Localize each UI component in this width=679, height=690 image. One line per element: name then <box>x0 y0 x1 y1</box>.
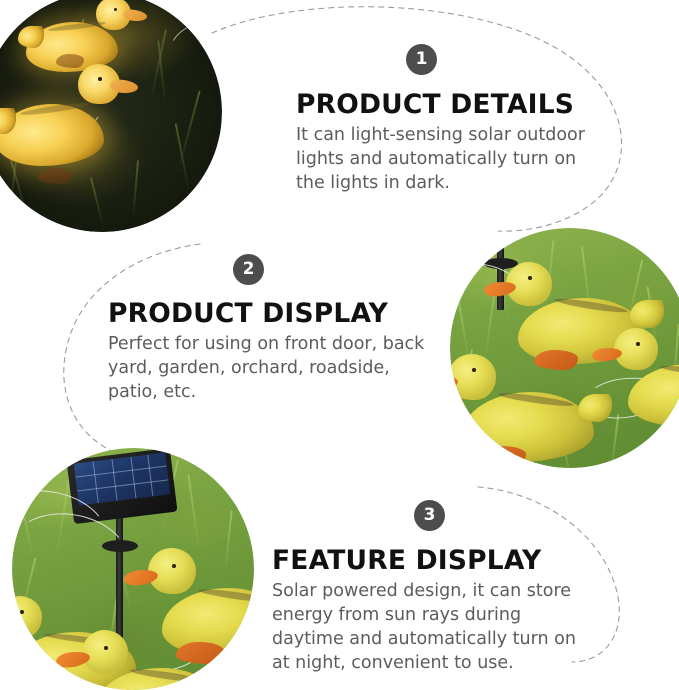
duck-night-front <box>0 62 142 180</box>
infographic-canvas: 1 PRODUCT DETAILS It can light-sensing s… <box>0 0 679 689</box>
section-1-body: It can light-sensing solar outdoor light… <box>296 124 608 195</box>
section-3-heading: FEATURE DISPLAY <box>272 546 612 575</box>
step-badge-3: 3 <box>414 500 445 531</box>
product-photo-night <box>0 0 222 232</box>
step-badge-2: 2 <box>233 254 264 285</box>
section-1-heading: PRODUCT DETAILS <box>296 90 626 119</box>
duck-solar-bottom <box>68 628 232 690</box>
solar-panel-scene <box>12 448 254 690</box>
section-2-heading: PRODUCT DISPLAY <box>108 299 438 328</box>
product-photo-solar-panel <box>12 448 254 690</box>
section-3: 3 FEATURE DISPLAY Solar powered design, … <box>272 500 612 675</box>
section-1: 1 PRODUCT DETAILS It can light-sensing s… <box>296 44 626 196</box>
daylight-grass-scene <box>450 228 679 468</box>
step-badge-1: 1 <box>406 44 437 75</box>
duck-day-left <box>450 346 612 468</box>
section-3-body: Solar powered design, it can store energ… <box>272 580 594 675</box>
duck-day-right <box>602 324 679 434</box>
night-scene <box>0 0 222 232</box>
product-photo-daylight <box>450 228 679 468</box>
section-2: 2 PRODUCT DISPLAY Perfect for using on f… <box>108 254 438 405</box>
section-2-body: Perfect for using on front door, back ya… <box>108 333 426 404</box>
